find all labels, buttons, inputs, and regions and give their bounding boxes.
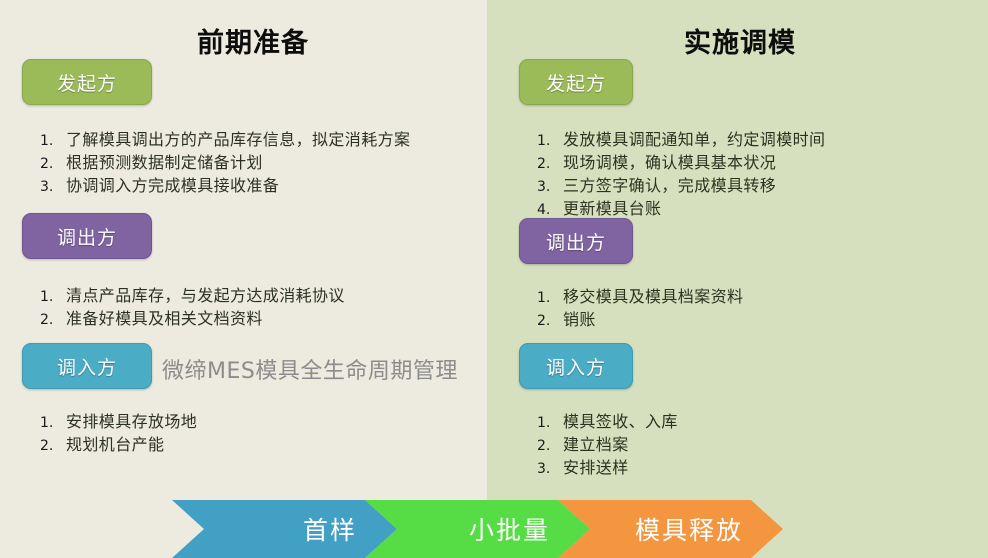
process-chevron-band: 首样 小批量 模具释放 bbox=[0, 500, 988, 558]
role-pill-label: 发起方 bbox=[57, 69, 117, 96]
role-pill-initiator-right[interactable]: 发起方 bbox=[519, 59, 633, 105]
list-item: 1. 模具签收、入库 bbox=[537, 408, 678, 431]
list-item: 2. 现场调模，确认模具基本状况 bbox=[537, 149, 825, 172]
list-text: 安排送样 bbox=[563, 454, 629, 478]
list-number: 3. bbox=[537, 461, 563, 477]
list-initiator-left: 1. 了解模具调出方的产品库存信息，拟定消耗方案 2. 根据预测数据制定储备计划… bbox=[40, 126, 410, 195]
list-number: 2. bbox=[40, 438, 66, 454]
list-initiator-right: 1. 发放模具调配通知单，约定调模时间 2. 现场调模，确认模具基本状况 3. … bbox=[537, 126, 825, 218]
list-text: 建立档案 bbox=[563, 431, 629, 455]
list-number: 2. bbox=[537, 438, 563, 454]
list-text: 规划机台产能 bbox=[66, 431, 164, 455]
list-number: 1. bbox=[537, 290, 563, 306]
list-item: 1. 清点产品库存，与发起方达成消耗协议 bbox=[40, 282, 345, 305]
watermark-text: 微缔MES模具全生命周期管理 bbox=[162, 353, 458, 385]
list-text: 安排模具存放场地 bbox=[66, 408, 197, 432]
list-item: 3. 安排送样 bbox=[537, 454, 678, 477]
list-text: 清点产品库存，与发起方达成消耗协议 bbox=[66, 282, 345, 306]
list-transferee-left: 1. 安排模具存放场地 2. 规划机台产能 bbox=[40, 408, 197, 454]
right-column-title: 实施调模 bbox=[684, 21, 796, 60]
list-number: 1. bbox=[40, 415, 66, 431]
list-number: 1. bbox=[40, 133, 66, 149]
list-text: 模具签收、入库 bbox=[563, 408, 678, 432]
list-item: 1. 移交模具及模具档案资料 bbox=[537, 283, 743, 306]
list-text: 更新模具台账 bbox=[563, 195, 661, 219]
list-number: 1. bbox=[40, 289, 66, 305]
chevron-label: 模具释放 bbox=[635, 511, 743, 547]
list-number: 4. bbox=[537, 202, 563, 218]
list-text: 三方签字确认，完成模具转移 bbox=[563, 172, 776, 196]
chevron-step-mold-release[interactable]: 模具释放 bbox=[558, 500, 783, 558]
list-text: 移交模具及模具档案资料 bbox=[563, 283, 743, 307]
role-pill-label: 调出方 bbox=[546, 228, 606, 255]
list-number: 1. bbox=[537, 415, 563, 431]
list-number: 2. bbox=[40, 312, 66, 328]
list-item: 2. 规划机台产能 bbox=[40, 431, 197, 454]
list-transferor-left: 1. 清点产品库存，与发起方达成消耗协议 2. 准备好模具及相关文档资料 bbox=[40, 282, 345, 328]
list-number: 3. bbox=[537, 179, 563, 195]
list-text: 销账 bbox=[563, 306, 596, 330]
role-pill-label: 调入方 bbox=[546, 353, 606, 380]
list-item: 3. 三方签字确认，完成模具转移 bbox=[537, 172, 825, 195]
list-text: 了解模具调出方的产品库存信息，拟定消耗方案 bbox=[66, 126, 410, 150]
role-pill-label: 调出方 bbox=[57, 223, 117, 250]
list-text: 现场调模，确认模具基本状况 bbox=[563, 149, 776, 173]
list-item: 2. 准备好模具及相关文档资料 bbox=[40, 305, 345, 328]
list-transferor-right: 1. 移交模具及模具档案资料 2. 销账 bbox=[537, 283, 743, 329]
role-pill-label: 调入方 bbox=[57, 353, 117, 380]
role-pill-transferee-right[interactable]: 调入方 bbox=[519, 343, 633, 389]
slide-canvas: 前期准备 实施调模 发起方 1. 了解模具调出方的产品库存信息，拟定消耗方案 2… bbox=[0, 0, 988, 558]
list-transferee-right: 1. 模具签收、入库 2. 建立档案 3. 安排送样 bbox=[537, 408, 678, 477]
list-item: 4. 更新模具台账 bbox=[537, 195, 825, 218]
list-item: 2. 建立档案 bbox=[537, 431, 678, 454]
list-number: 2. bbox=[537, 313, 563, 329]
chevron-step-small-batch[interactable]: 小批量 bbox=[365, 500, 590, 558]
role-pill-initiator-left[interactable]: 发起方 bbox=[22, 59, 152, 105]
list-number: 3. bbox=[40, 179, 66, 195]
list-item: 1. 发放模具调配通知单，约定调模时间 bbox=[537, 126, 825, 149]
list-item: 1. 了解模具调出方的产品库存信息，拟定消耗方案 bbox=[40, 126, 410, 149]
list-text: 准备好模具及相关文档资料 bbox=[66, 305, 263, 329]
chevron-step-first-article[interactable]: 首样 bbox=[172, 500, 397, 558]
list-text: 发放模具调配通知单，约定调模时间 bbox=[563, 126, 825, 150]
chevron-label: 首样 bbox=[303, 511, 357, 547]
role-pill-transferee-left[interactable]: 调入方 bbox=[22, 343, 152, 389]
role-pill-transferor-right[interactable]: 调出方 bbox=[519, 218, 633, 264]
left-column-title: 前期准备 bbox=[197, 21, 309, 60]
list-text: 协调调入方完成模具接收准备 bbox=[66, 172, 279, 196]
list-item: 3. 协调调入方完成模具接收准备 bbox=[40, 172, 410, 195]
list-item: 1. 安排模具存放场地 bbox=[40, 408, 197, 431]
list-number: 1. bbox=[537, 133, 563, 149]
role-pill-label: 发起方 bbox=[546, 69, 606, 96]
role-pill-transferor-left[interactable]: 调出方 bbox=[22, 213, 152, 259]
list-number: 2. bbox=[40, 156, 66, 172]
chevron-label: 小批量 bbox=[469, 511, 550, 547]
list-text: 根据预测数据制定储备计划 bbox=[66, 149, 263, 173]
list-item: 2. 根据预测数据制定储备计划 bbox=[40, 149, 410, 172]
list-item: 2. 销账 bbox=[537, 306, 743, 329]
list-number: 2. bbox=[537, 156, 563, 172]
